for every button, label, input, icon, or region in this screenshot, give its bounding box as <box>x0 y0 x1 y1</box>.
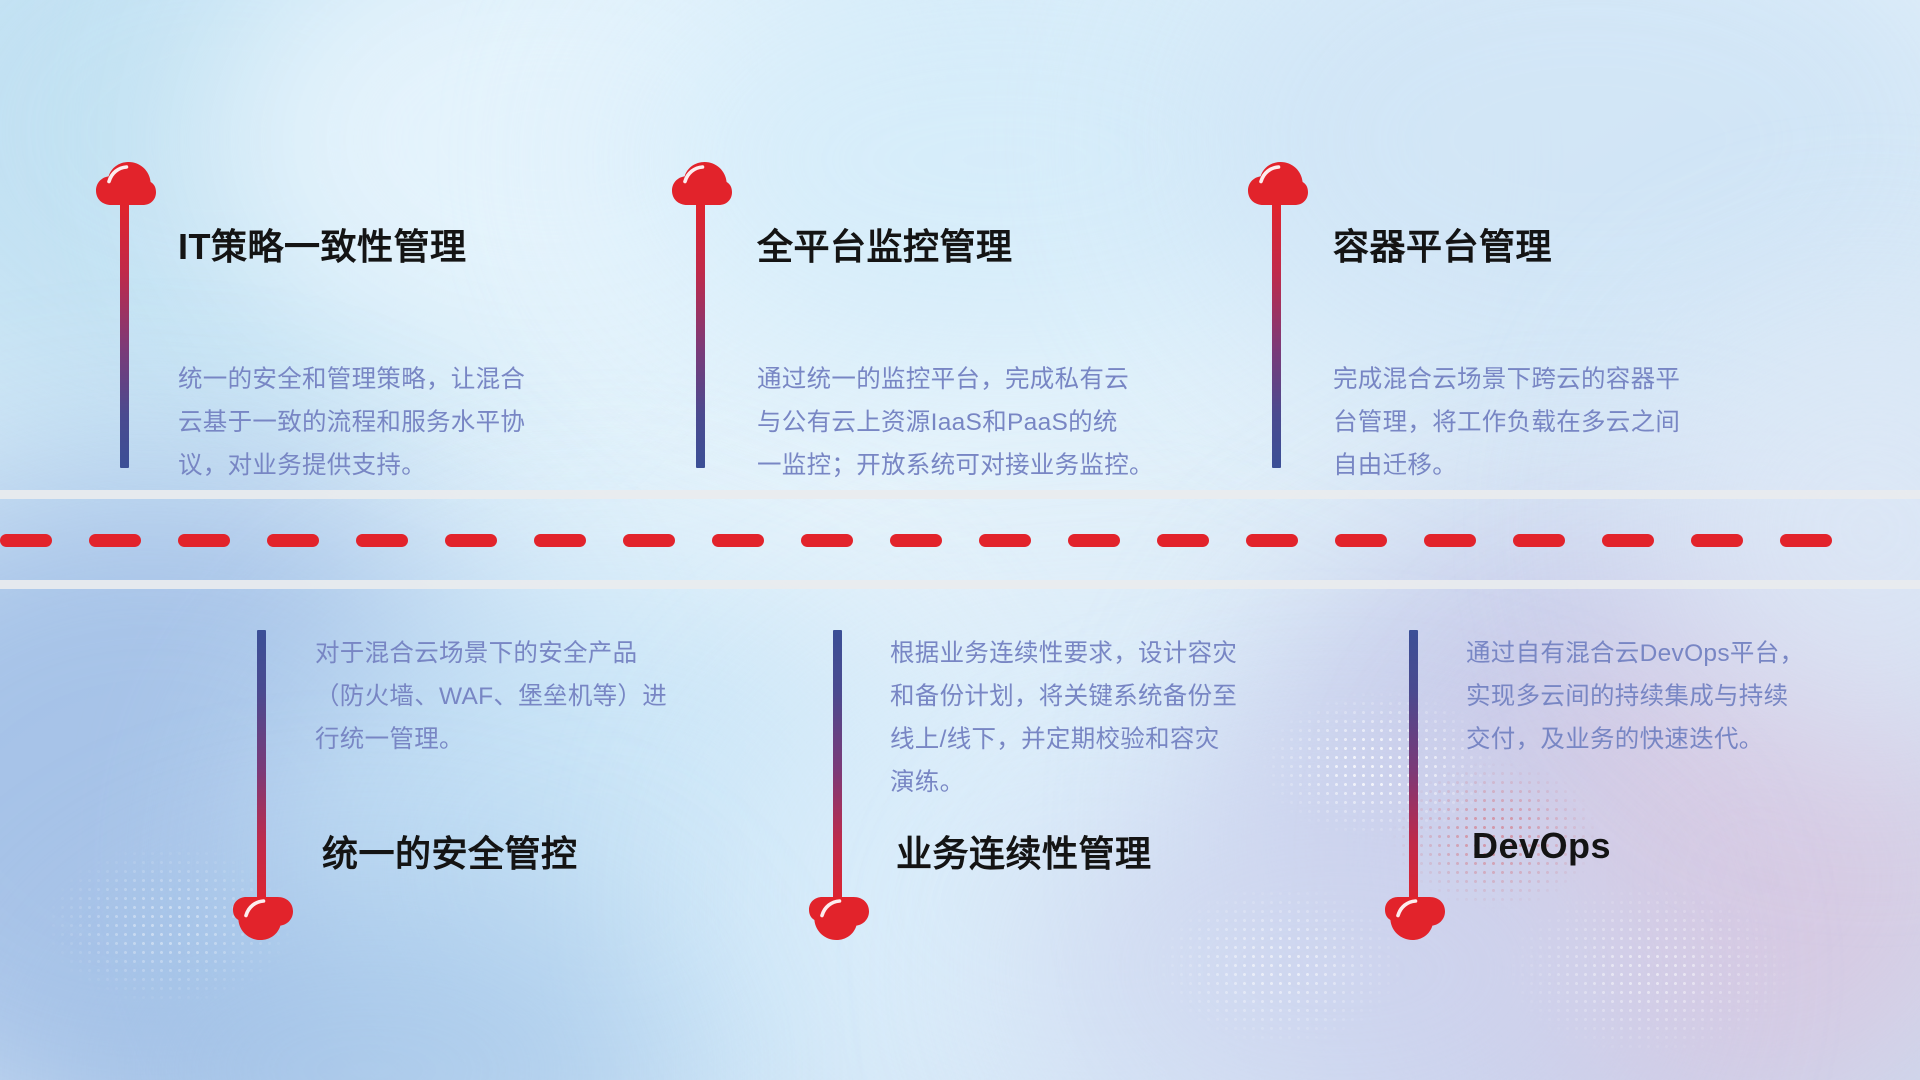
description-line: 行统一管理。 <box>315 718 745 761</box>
divider-dash <box>1335 534 1387 547</box>
cloud-pin-icon <box>232 895 294 941</box>
description-line: 与公有云上资源IaaS和PaaS的统 <box>757 401 1197 444</box>
divider-dash <box>801 534 853 547</box>
timeline-stem <box>1272 203 1281 468</box>
timeline-stem <box>257 630 266 910</box>
description-line: 根据业务连续性要求，设计容灾 <box>890 632 1320 675</box>
cloud-pin-icon <box>1384 895 1446 941</box>
description-line: 议，对业务提供支持。 <box>178 444 608 487</box>
divider-dash <box>1068 534 1120 547</box>
section-divider <box>0 490 1920 600</box>
divider-dash <box>1424 534 1476 547</box>
divider-rule-bottom <box>0 580 1920 589</box>
description-line: （防火墙、WAF、堡垒机等）进 <box>315 675 745 718</box>
divider-dash <box>0 534 52 547</box>
divider-dash <box>356 534 408 547</box>
cloud-pin-icon <box>808 895 870 941</box>
description-line: 台管理，将工作负载在多云之间 <box>1333 401 1763 444</box>
divider-dash <box>1513 534 1565 547</box>
divider-dash <box>1691 534 1743 547</box>
divider-dash <box>267 534 319 547</box>
feature-description: 根据业务连续性要求，设计容灾 和备份计划，将关键系统备份至 线上/线下，并定期校… <box>890 632 1320 804</box>
halftone-dots-decoration <box>1500 880 1800 1060</box>
feature-title: 统一的安全管控 <box>322 825 578 877</box>
description-line: 交付，及业务的快速迭代。 <box>1466 718 1896 761</box>
description-line: 通过统一的监控平台，完成私有云 <box>757 358 1197 401</box>
divider-rule-top <box>0 490 1920 499</box>
divider-dash <box>979 534 1031 547</box>
cloud-pin-icon <box>95 161 157 207</box>
feature-title: DevOps <box>1472 825 1611 867</box>
timeline-stem <box>1409 630 1418 910</box>
divider-dash <box>712 534 764 547</box>
feature-title: 业务连续性管理 <box>896 825 1152 877</box>
description-line: 演练。 <box>890 761 1320 804</box>
feature-description: 统一的安全和管理策略，让混合 云基于一致的流程和服务水平协 议，对业务提供支持。 <box>178 358 608 487</box>
feature-description: 完成混合云场景下跨云的容器平 台管理，将工作负载在多云之间 自由迁移。 <box>1333 358 1763 487</box>
dashed-road-line <box>0 533 1920 547</box>
description-line: 线上/线下，并定期校验和容灾 <box>890 718 1320 761</box>
feature-title: IT策略一致性管理 <box>178 218 467 270</box>
divider-dash <box>534 534 586 547</box>
timeline-stem <box>120 203 129 468</box>
divider-dash <box>1157 534 1209 547</box>
description-line: 通过自有混合云DevOps平台， <box>1466 632 1896 675</box>
divider-dash <box>890 534 942 547</box>
divider-dash <box>445 534 497 547</box>
description-line: 和备份计划，将关键系统备份至 <box>890 675 1320 718</box>
divider-dash <box>1246 534 1298 547</box>
divider-dash <box>178 534 230 547</box>
divider-dash <box>1602 534 1654 547</box>
description-line: 对于混合云场景下的安全产品 <box>315 632 745 675</box>
description-line: 自由迁移。 <box>1333 444 1763 487</box>
divider-dash <box>89 534 141 547</box>
description-line: 完成混合云场景下跨云的容器平 <box>1333 358 1763 401</box>
feature-title: 容器平台管理 <box>1333 218 1552 270</box>
halftone-dots-decoration <box>1150 880 1410 1050</box>
feature-description: 通过统一的监控平台，完成私有云 与公有云上资源IaaS和PaaS的统 一监控；开… <box>757 358 1197 487</box>
divider-dash <box>623 534 675 547</box>
description-line: 云基于一致的流程和服务水平协 <box>178 401 608 444</box>
infographic-canvas: IT策略一致性管理 统一的安全和管理策略，让混合 云基于一致的流程和服务水平协 … <box>0 0 1920 1080</box>
description-line: 统一的安全和管理策略，让混合 <box>178 358 608 401</box>
divider-dash <box>1780 534 1832 547</box>
cloud-pin-icon <box>671 161 733 207</box>
timeline-stem <box>833 630 842 910</box>
timeline-stem <box>696 203 705 468</box>
feature-description: 对于混合云场景下的安全产品 （防火墙、WAF、堡垒机等）进 行统一管理。 <box>315 632 745 761</box>
description-line: 一监控；开放系统可对接业务监控。 <box>757 444 1197 487</box>
feature-description: 通过自有混合云DevOps平台， 实现多云间的持续集成与持续 交付，及业务的快速… <box>1466 632 1896 761</box>
cloud-pin-icon <box>1247 161 1309 207</box>
description-line: 实现多云间的持续集成与持续 <box>1466 675 1896 718</box>
feature-title: 全平台监控管理 <box>757 218 1013 270</box>
